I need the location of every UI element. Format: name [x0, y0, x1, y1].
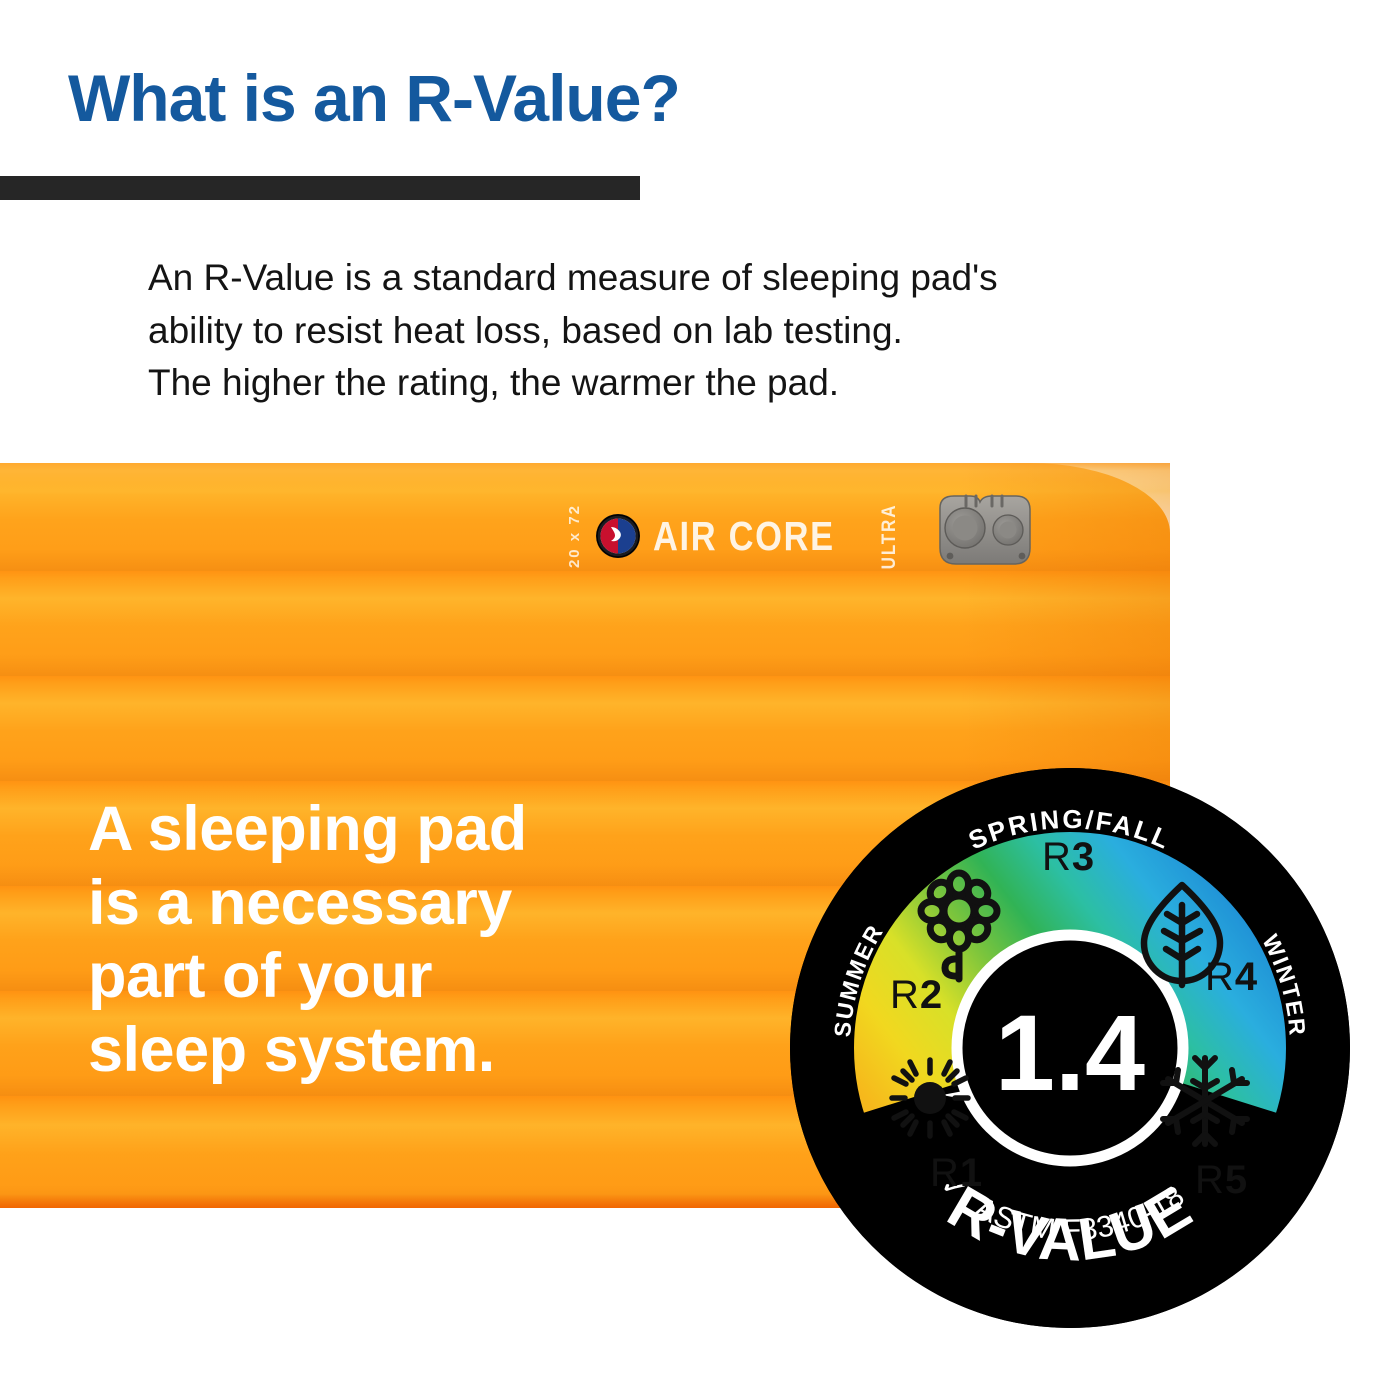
pad-brand-name: AIR CORE	[653, 513, 835, 560]
big-agnes-logo-icon	[595, 513, 641, 559]
pad-brand-sub: ULTRA	[879, 504, 901, 570]
pad-headline-line-1: A sleeping pad	[88, 793, 788, 867]
badge-tick-r1-num: 1	[960, 1151, 982, 1195]
badge-tick-r1-prefix: R	[930, 1151, 959, 1195]
badge-tick-r1: R1	[930, 1151, 982, 1195]
pad-size-label: 20 x 72	[566, 504, 583, 568]
pad-baffle	[0, 571, 1170, 676]
pad-baffle	[0, 676, 1170, 781]
intro-line-2: ability to resist heat loss, based on la…	[148, 305, 1198, 358]
badge-tick-r5: R5	[1195, 1158, 1247, 1202]
r-value-badge: 1.4 SPRING/FALL SUMMER WINTER R-VALUE ✓ …	[790, 768, 1350, 1328]
pad-valve-icon	[930, 490, 1040, 572]
badge-tick-r3: R3	[1042, 835, 1094, 879]
badge-value-text: 1.4	[995, 992, 1145, 1113]
intro-line-1: An R-Value is a standard measure of slee…	[148, 252, 1198, 305]
pad-headline-line-4: sleep system.	[88, 1014, 788, 1088]
badge-tick-r2: R2	[890, 973, 942, 1017]
pad-branding: 20 x 72 AIR CORE ULTRA	[566, 500, 901, 573]
intro-paragraph: An R-Value is a standard measure of slee…	[148, 252, 1198, 410]
sun-icon	[892, 1060, 968, 1136]
pad-headline-line-3: part of your	[88, 940, 788, 1014]
pad-headline: A sleeping pad is a necessary part of yo…	[88, 793, 788, 1088]
pad-headline-line-2: is a necessary	[88, 867, 788, 941]
title-divider-rule	[0, 176, 640, 200]
page-title: What is an R-Value?	[68, 62, 680, 135]
intro-line-3: The higher the rating, the warmer the pa…	[148, 357, 1198, 410]
